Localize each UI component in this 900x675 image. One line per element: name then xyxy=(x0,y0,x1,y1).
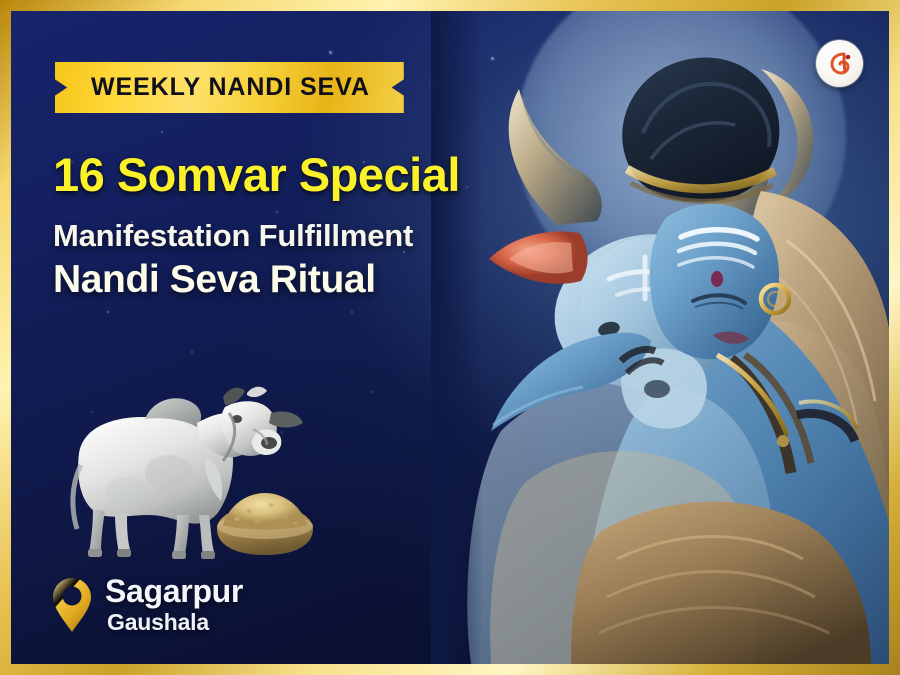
shiva-embracing-nandi-artwork xyxy=(431,11,889,664)
headline-block: 16 Somvar Special Manifestation Fulfillm… xyxy=(53,150,573,301)
white-nandi-bull-image xyxy=(57,369,327,569)
grain-offering-bowl-image xyxy=(217,493,313,555)
poster-inner: WEEKLY NANDI SEVA 16 Somvar Special Mani… xyxy=(11,11,889,664)
weekly-nandi-seva-badge[interactable]: WEEKLY NANDI SEVA xyxy=(55,62,404,113)
location-place: Gaushala xyxy=(107,611,243,634)
bull-nose xyxy=(261,437,277,449)
bull-ear-right xyxy=(269,411,303,427)
page-title: 16 Somvar Special xyxy=(53,150,573,200)
ganesha-logo-icon[interactable] xyxy=(816,40,863,87)
location-block[interactable]: Sagarpur Gaushala xyxy=(51,575,243,634)
location-text: Sagarpur Gaushala xyxy=(105,575,243,634)
poster-frame: WEEKLY NANDI SEVA 16 Somvar Special Mani… xyxy=(0,0,900,675)
subtitle-one: Manifestation Fulfillment xyxy=(53,219,573,254)
location-city: Sagarpur xyxy=(105,575,243,607)
subtitle-two: Nandi Seva Ritual xyxy=(53,259,573,302)
map-pin-icon xyxy=(51,576,93,634)
badge-label: WEEKLY NANDI SEVA xyxy=(91,73,370,102)
ganesha-glyph-icon xyxy=(824,48,856,80)
